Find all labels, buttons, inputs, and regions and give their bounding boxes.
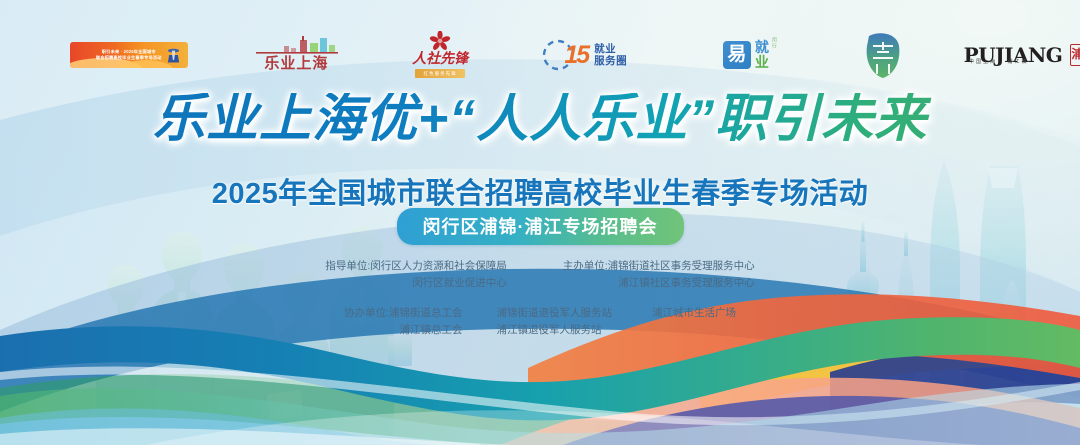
guiding-unit-block: 指导单位:闵行区人力资源和社会保障局 闵行区就业促进中心 bbox=[325, 258, 506, 293]
minhang-seal-icon bbox=[859, 30, 907, 80]
national-spring-campaign-banner: 职引未来 · 2025年全国城市 联合招聘高校毕业生春季专场活动 bbox=[70, 42, 188, 68]
event-name-pill: 闵行区浦锦·浦江专场招聘会 bbox=[397, 208, 684, 245]
coorganizer-unit-block: 协办单位:浦锦街道总工会 浦江镇总工会 bbox=[344, 305, 462, 340]
jiuye-fuwuquan-logo: 15 就业 服务圈 bbox=[541, 34, 645, 76]
yi-jiuye-line-1: 就 bbox=[755, 40, 769, 55]
coorganizer-line-2: 浦江镇总工会 bbox=[344, 322, 462, 339]
credits-gap-3 bbox=[612, 305, 652, 340]
yi-jiuye-line-2: 业 bbox=[755, 55, 769, 70]
jiuye-number: 15 bbox=[564, 43, 588, 68]
host-unit-line-1: 主办单位:浦锦街道社区事务受理服务中心 bbox=[563, 258, 755, 275]
credits-gap-2 bbox=[462, 305, 496, 340]
venue-line-1: 浦江城市生活广场 bbox=[652, 305, 736, 322]
veteran-service-block: 浦锦街道退役军人服务站 浦江镇退役军人服务站 bbox=[496, 305, 612, 340]
yi-jiuye-words: 就 业 bbox=[755, 40, 769, 69]
guiding-unit-line-1: 指导单位:闵行区人力资源和社会保障局 bbox=[325, 258, 506, 275]
minhang-district-logo bbox=[856, 30, 910, 80]
recruitment-poster: 职引未来 · 2025年全国城市 联合招聘高校毕业生春季专场活动 bbox=[0, 0, 1080, 445]
coorganizer-line-1: 协办单位:浦锦街道总工会 bbox=[344, 305, 462, 322]
leye-shanghai-text: 乐业上海 bbox=[254, 52, 340, 73]
graduate-figure-icon bbox=[166, 46, 181, 64]
renshe-xianfeng-subtext: 红色服务先锋 bbox=[415, 69, 465, 78]
jiuye-line-2: 服务圈 bbox=[594, 55, 627, 67]
veteran-service-line-2: 浦江镇退役军人服务站 bbox=[496, 322, 612, 339]
pujiang-sub-text: 中国上海 · 浦江镇 bbox=[969, 58, 1028, 65]
organizer-credits: 指导单位:闵行区人力资源和社会保障局 闵行区就业促进中心 主办单位:浦锦街道社区… bbox=[0, 258, 1080, 339]
veteran-service-line-1: 浦锦街道退役军人服务站 bbox=[496, 305, 612, 322]
leye-shanghai-logo: 乐业上海 bbox=[254, 36, 340, 74]
guiding-unit-line-2: 闵行区就业促进中心 bbox=[325, 275, 506, 292]
pujiang-town-logo: PUJIANG 中国上海 · 浦江镇 浦 bbox=[968, 36, 1080, 74]
renshe-xianfeng-logo: 人社先锋 红色服务先锋 bbox=[403, 32, 477, 78]
credits-gap-1 bbox=[507, 258, 563, 293]
poster-subtitle: 2025年全国城市联合招聘高校毕业生春季专场活动 bbox=[0, 170, 1080, 212]
credits-row-1: 指导单位:闵行区人力资源和社会保障局 闵行区就业促进中心 主办单位:浦锦街道社区… bbox=[0, 258, 1080, 293]
yi-jiuye-logo: 易 就 业 闵行 bbox=[707, 35, 795, 75]
jiuye-words: 就业 服务圈 bbox=[594, 43, 627, 67]
event-pill-wrapper: 闵行区浦锦·浦江专场招聘会 bbox=[0, 208, 1080, 245]
banner-line-2: 联合招聘高校毕业生春季专场活动 bbox=[96, 55, 162, 61]
yi-character-box: 易 bbox=[723, 41, 751, 69]
host-unit-line-2: 浦江镇社区事务受理服务中心 bbox=[563, 275, 755, 292]
host-unit-block: 主办单位:浦锦街道社区事务受理服务中心 浦江镇社区事务受理服务中心 bbox=[563, 258, 755, 293]
yi-jiuye-side-text: 闵行 bbox=[771, 37, 778, 49]
jiuye-line-1: 就业 bbox=[594, 43, 627, 55]
poster-headline: 乐业上海优+“人人乐业”职引未来 bbox=[0, 93, 1080, 145]
credits-row-2: 协办单位:浦锦街道总工会 浦江镇总工会 浦锦街道退役军人服务站 浦江镇退役军人服… bbox=[0, 305, 1080, 340]
sponsor-logo-strip: 职引未来 · 2025年全国城市 联合招聘高校毕业生春季专场活动 bbox=[0, 24, 1080, 86]
venue-block: 浦江城市生活广场 bbox=[652, 305, 736, 340]
pujiang-seal: 浦 bbox=[1070, 44, 1080, 66]
renshe-xianfeng-text: 人社先锋 bbox=[403, 48, 477, 68]
